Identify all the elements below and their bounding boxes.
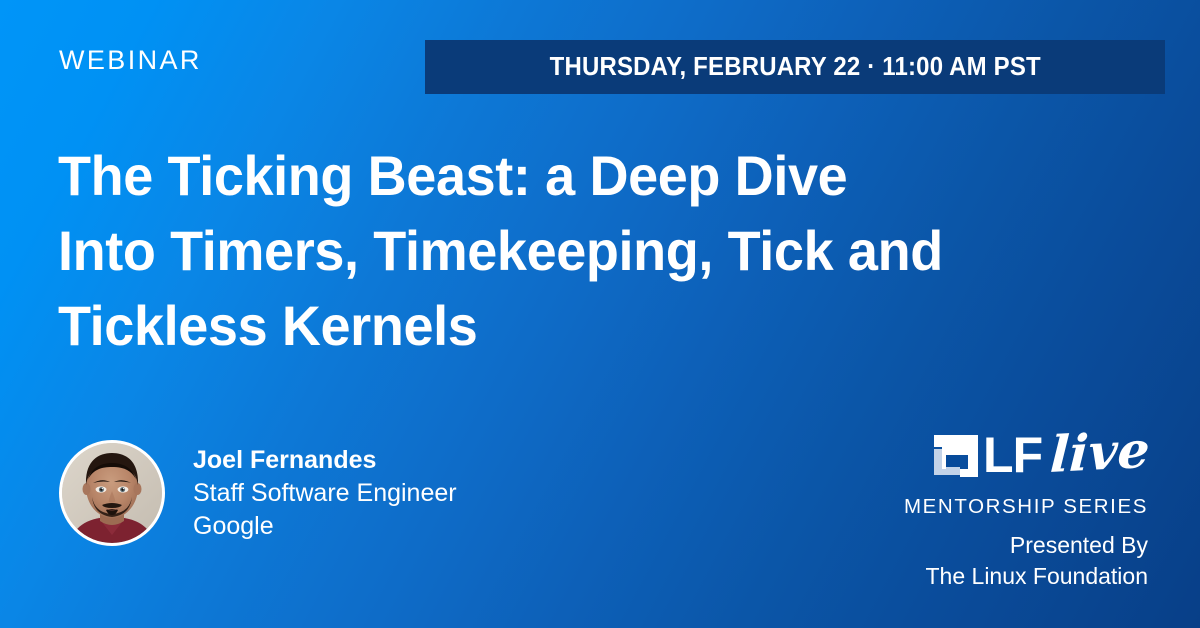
speaker-name: Joel Fernandes xyxy=(193,444,457,477)
presenting-organization: The Linux Foundation xyxy=(888,561,1148,592)
date-time-text: THURSDAY, FEBRUARY 22 · 11:00 AM PST xyxy=(549,53,1040,82)
speaker-details: Joel Fernandes Staff Software Engineer G… xyxy=(193,444,457,543)
title-line-1: The Ticking Beast: a Deep Dive xyxy=(58,138,1129,213)
webinar-promo-banner: WEBINAR THURSDAY, FEBRUARY 22 · 11:00 AM… xyxy=(0,0,1200,628)
speaker-organization: Google xyxy=(193,510,457,543)
lf-live-logo: LF live xyxy=(888,424,1148,486)
mentorship-series-label: MENTORSHIP SERIES xyxy=(888,495,1148,519)
lf-live-script: live xyxy=(1049,425,1151,480)
avatar xyxy=(59,440,165,546)
speaker-block: Joel Fernandes Staff Software Engineer G… xyxy=(59,440,457,546)
title-line-2: Into Timers, Timekeeping, Tick and xyxy=(58,213,1129,288)
page-title: The Ticking Beast: a Deep Dive Into Time… xyxy=(58,138,1168,363)
speaker-role: Staff Software Engineer xyxy=(193,477,457,510)
date-time-badge: THURSDAY, FEBRUARY 22 · 11:00 AM PST xyxy=(425,40,1165,94)
eyebrow-label: WEBINAR xyxy=(59,47,202,74)
speaker-portrait-image xyxy=(62,443,162,543)
title-line-3: Tickless Kernels xyxy=(58,288,1129,363)
lf-live-lockup: LF live MENTORSHIP SERIES Presented By T… xyxy=(888,424,1148,592)
presented-by-label: Presented By xyxy=(888,530,1148,561)
lf-bracket-square-icon xyxy=(932,431,980,479)
lf-wordmark: LF xyxy=(983,430,1042,480)
